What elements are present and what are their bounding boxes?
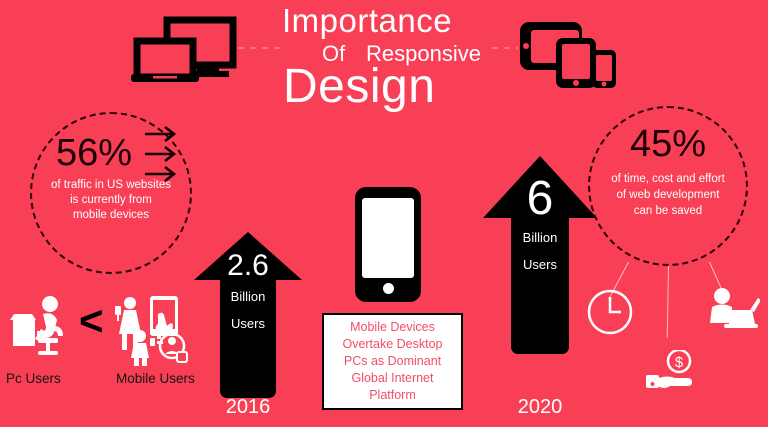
page-title-importance: Importance [282, 2, 452, 40]
arrow-unit-billion-2016: Billion [194, 289, 302, 304]
tablet-phone-icon [518, 18, 618, 95]
infographic-canvas: Importance Of Responsive Design 56% [0, 0, 768, 427]
smartphone-home-button [383, 283, 394, 294]
arrow-unit-billion-2020: Billion [483, 230, 597, 245]
page-title-design: Design [283, 59, 435, 114]
smartphone-screen [362, 198, 414, 278]
desktop-laptop-icon [131, 16, 239, 91]
mobile-users-group-icon [108, 296, 190, 371]
label-mobile-users: Mobile Users [116, 371, 195, 386]
connector-line-money [667, 266, 669, 338]
arrow-unit-users-2016: Users [194, 316, 302, 331]
arrow-value-2016: 2.6 [194, 249, 302, 283]
person-at-laptop-icon [706, 288, 760, 341]
stat-left-line-3: mobile devices [51, 208, 171, 223]
stat-right-line-1: of time, cost and effort [611, 171, 725, 187]
stat-right-line-2: of web development [611, 187, 725, 203]
growth-arrow-2016: 2.6 Billion Users [194, 232, 302, 398]
stat-percent-56: 56% [56, 134, 132, 172]
year-label-2016: 2016 [194, 396, 302, 419]
arrow-unit-users-2020: Users [483, 257, 597, 272]
stat-description-right: of time, cost and effort of web developm… [605, 171, 731, 219]
arrow-value-2020: 6 [483, 171, 597, 226]
year-label-2020: 2020 [483, 396, 597, 419]
hand-with-dollar-coin-icon: $ [645, 350, 701, 397]
callout-box: Mobile Devices Overtake Desktop PCs as D… [322, 313, 463, 410]
three-right-arrows-icon [143, 125, 183, 188]
callout-text: Mobile Devices Overtake Desktop PCs as D… [342, 319, 442, 404]
clock-icon [586, 288, 634, 341]
stat-percent-45: 45% [630, 125, 706, 163]
smartphone-icon [355, 187, 421, 302]
label-pc-users: Pc Users [6, 371, 61, 386]
title-dashed-rule-left [238, 47, 284, 49]
stat-right-line-3: can be saved [611, 203, 725, 219]
less-than-icon: < [79, 300, 104, 342]
growth-arrow-2020: 6 Billion Users [483, 156, 597, 400]
stat-circle-savings: 45% of time, cost and effort of web deve… [588, 106, 748, 266]
title-dashed-rule-right [492, 47, 518, 49]
person-at-desktop-icon [10, 296, 76, 363]
stat-left-line-2: is currently from [51, 193, 171, 208]
svg-text:$: $ [675, 354, 684, 371]
